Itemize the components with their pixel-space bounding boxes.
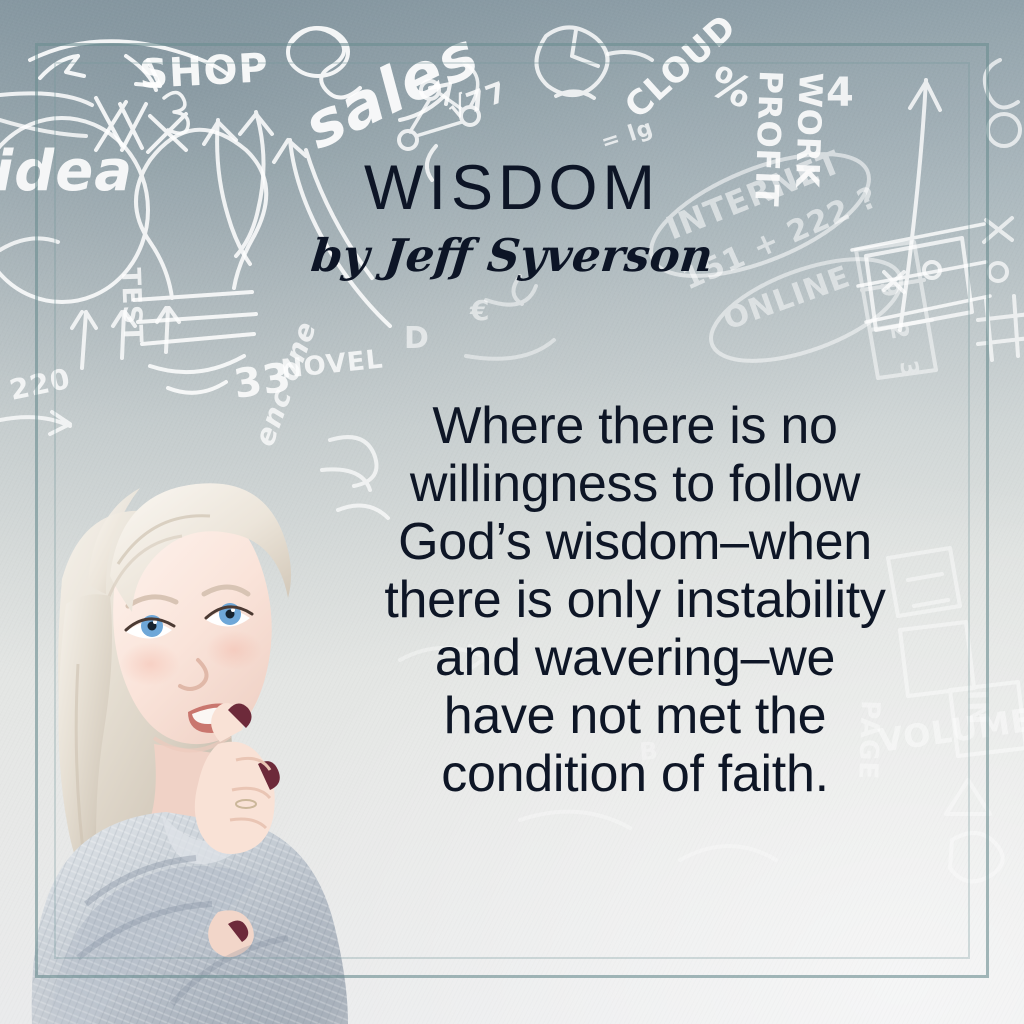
page-title: WISDOM	[0, 157, 1024, 220]
subject-photo	[22, 364, 352, 1024]
quote-line: condition of faith.	[330, 746, 940, 804]
quote-line: and wavering–we	[330, 630, 940, 688]
author-byline: by Jeff Syverson	[0, 228, 1024, 284]
quote-line: have not met the	[330, 688, 940, 746]
quote-graphic-canvas: SHOP idea	[0, 0, 1024, 1024]
quote-text: Where there is no willingness to follow …	[330, 398, 940, 804]
quote-line: willingness to follow	[330, 456, 940, 514]
quote-line: Where there is no	[330, 398, 940, 456]
quote-line: there is only instability	[330, 572, 940, 630]
cheek	[206, 630, 262, 670]
quote-line: God’s wisdom–when	[330, 514, 940, 572]
woman-illustration	[22, 364, 352, 1024]
cheek	[120, 642, 180, 686]
